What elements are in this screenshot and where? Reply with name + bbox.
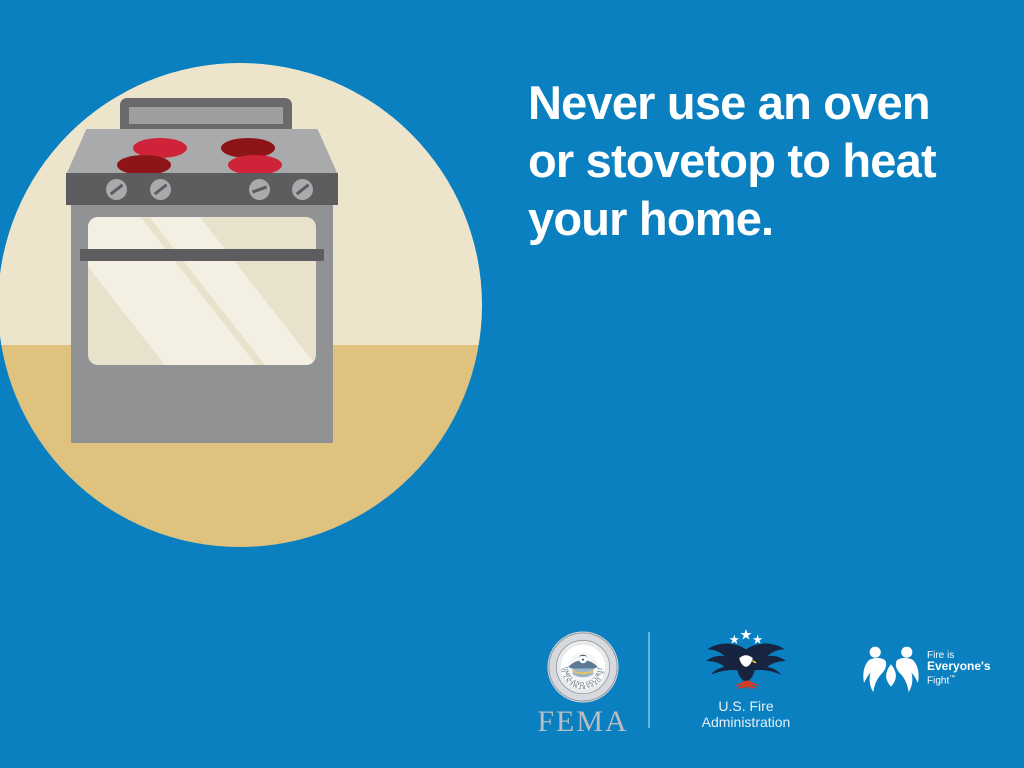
fief-wordmark: Fire is Everyone's Fight™ [927,650,991,687]
knob-tick [296,184,309,195]
fema-logo-lockup: U.S. DEPARTMENT OF HOMELAND SECURITY [528,630,638,737]
usfa-logo-lockup: U.S. Fire Administration [680,628,812,730]
stove-cooktop [66,129,338,175]
footer-logo-bar: U.S. DEPARTMENT OF HOMELAND SECURITY [510,620,1010,750]
two-figures-flame-icon [862,642,920,694]
fire-is-everyones-fight-lockup: Fire is Everyone's Fight™ [862,642,1010,694]
usfa-wordmark-line-1: U.S. Fire [680,698,812,714]
usfa-wordmark: U.S. Fire Administration [680,698,812,730]
oven-door-window [88,217,316,365]
knob-tick [110,184,123,195]
trademark-symbol: ™ [949,675,955,681]
fief-line-3: Fight™ [927,673,991,687]
stove-knob-4-icon [292,179,313,200]
psa-poster: Never use an oven or stovetop to heat yo… [0,0,1024,768]
fief-line-3-text: Fight [927,675,949,686]
burner-front-right-icon [228,155,282,175]
stove-backsplash-panel [129,107,283,124]
usfa-eagle-icon [696,628,796,696]
stove-knob-2-icon [150,179,171,200]
fief-line-2: Everyone's [927,661,991,673]
headline-line-2: or stovetop to heat [528,132,988,190]
stove-illustration [0,60,484,550]
fema-wordmark: FEMA [528,707,638,737]
stove-knob-3-icon [249,179,270,200]
headline-line-1: Never use an oven [528,74,988,132]
usfa-wordmark-line-2: Administration [680,714,812,730]
dhs-seal-icon: U.S. DEPARTMENT OF HOMELAND SECURITY [546,630,620,704]
burner-front-left-icon [117,155,171,175]
knob-tick [252,186,267,194]
illustration-circle [0,60,484,550]
knob-tick [154,184,167,195]
headline-line-3: your home. [528,190,988,248]
oven-door-handle [80,249,324,261]
footer-divider [648,632,650,728]
stove-knob-1-icon [106,179,127,200]
page-title: Never use an oven or stovetop to heat yo… [528,74,988,248]
stove-graphic [0,60,484,550]
